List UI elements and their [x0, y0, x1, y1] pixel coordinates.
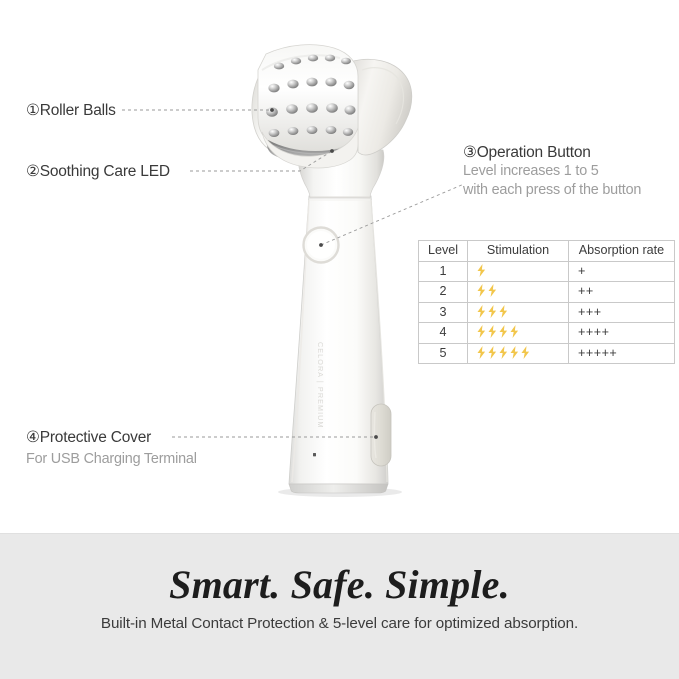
protective-cover[interactable] [371, 404, 391, 466]
indicator-dot [313, 453, 316, 456]
callout-operation-button: ③Operation Button Level increases 1 to 5… [463, 143, 641, 200]
operation-button[interactable] [304, 228, 339, 263]
callout-protective-cover: ④Protective Cover For USB Charging Termi… [26, 428, 197, 469]
lightning-bolt-icon [509, 325, 520, 338]
table-cell-absorption-rate: ++ [569, 282, 675, 303]
table-row: 1+ [419, 261, 675, 282]
lightning-bolt-icon [487, 325, 498, 338]
table-cell-level: 2 [419, 282, 468, 303]
device-base [289, 484, 388, 493]
table-cell-stimulation [468, 261, 569, 282]
table-row: 5+++++ [419, 343, 675, 364]
table-header-stimulation: Stimulation [468, 241, 569, 262]
callout-number-3: ③ [463, 144, 477, 161]
table-header-level: Level [419, 241, 468, 262]
callout-label-roller-balls: Roller Balls [40, 102, 116, 119]
lightning-bolt-icon [476, 305, 487, 318]
table-row: 3+++ [419, 302, 675, 323]
stimulation-table: Level Stimulation Absorption rate 1+2++3… [418, 240, 675, 364]
table-cell-stimulation [468, 282, 569, 303]
table-cell-level: 5 [419, 343, 468, 364]
table-cell-absorption-rate: ++++ [569, 323, 675, 344]
callout-sub-operation-button-line1: Level increases 1 to 5 [463, 162, 641, 181]
lightning-bolt-icon [487, 305, 498, 318]
brand-text: CELORA | PREMIUM [316, 342, 325, 429]
table-row: 2++ [419, 282, 675, 303]
table-cell-level: 4 [419, 323, 468, 344]
table-cell-stimulation [468, 302, 569, 323]
footer-tagline: Smart. Safe. Simple. [0, 562, 679, 608]
table-cell-absorption-rate: +++ [569, 302, 675, 323]
table-cell-level: 1 [419, 261, 468, 282]
callout-number-1: ① [26, 102, 40, 119]
lightning-bolt-icon [487, 284, 498, 297]
callout-number-4: ④ [26, 429, 40, 446]
lightning-bolt-icon [498, 325, 509, 338]
lightning-bolt-icon [509, 346, 520, 359]
table-cell-stimulation [468, 343, 569, 364]
table-cell-absorption-rate: + [569, 261, 675, 282]
infographic-canvas: CELORA | PREMIUM ①Roller Balls ②Soothing… [0, 0, 679, 679]
lightning-bolt-icon [476, 264, 487, 277]
lightning-bolt-icon [520, 346, 531, 359]
lightning-bolt-icon [487, 346, 498, 359]
table-header-absorption-rate: Absorption rate [569, 241, 675, 262]
lightning-bolt-icon [498, 346, 509, 359]
lightning-bolt-icon [476, 346, 487, 359]
callout-soothing-care-led: ②Soothing Care LED [26, 162, 170, 181]
lightning-bolt-icon [476, 325, 487, 338]
lightning-bolt-icon [498, 305, 509, 318]
table-header-row: Level Stimulation Absorption rate [419, 241, 675, 262]
table-cell-level: 3 [419, 302, 468, 323]
callout-sub-operation-button-line2: with each press of the button [463, 181, 641, 200]
callout-sub-protective-cover: For USB Charging Terminal [26, 450, 197, 469]
table-cell-absorption-rate: +++++ [569, 343, 675, 364]
callout-label-protective-cover: Protective Cover [40, 429, 151, 446]
lightning-bolt-icon [476, 284, 487, 297]
table-row: 4++++ [419, 323, 675, 344]
footer-subtitle: Built-in Metal Contact Protection & 5-le… [0, 615, 679, 632]
callout-number-2: ② [26, 163, 40, 180]
callout-label-operation-button: Operation Button [477, 144, 591, 161]
callout-roller-balls: ①Roller Balls [26, 101, 116, 120]
table-cell-stimulation [468, 323, 569, 344]
callout-label-soothing-care-led: Soothing Care LED [40, 163, 170, 180]
